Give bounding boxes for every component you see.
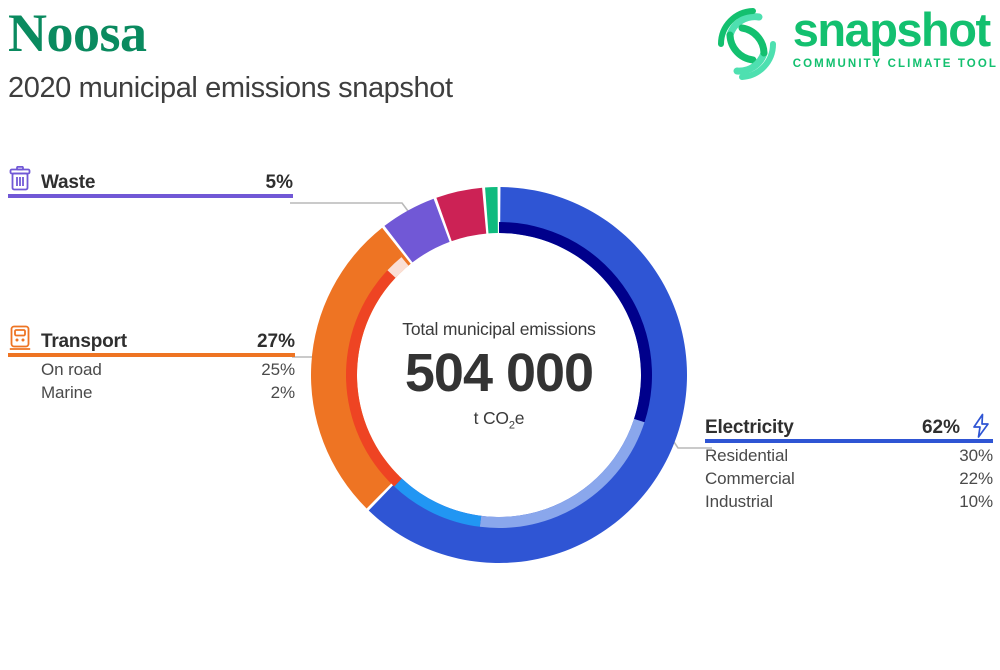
list-item: Commercial 22% xyxy=(705,466,993,489)
electricity-subitems: Residential 30% Commercial 22% Industria… xyxy=(705,443,993,512)
snapshot-spiral-logo-icon xyxy=(713,8,781,80)
transport-label: Transport xyxy=(41,331,127,353)
emissions-donut-chart xyxy=(311,187,687,563)
subitem-percent: 2% xyxy=(271,383,295,403)
list-item: On road 25% xyxy=(41,357,295,380)
lightning-bolt-icon xyxy=(969,413,993,439)
list-item: Marine 2% xyxy=(41,380,295,403)
waste-label: Waste xyxy=(41,172,95,194)
subitem-label: Residential xyxy=(705,446,788,466)
logo-text-block: snapshot COMMUNITY CLIMATE TOOL xyxy=(793,6,998,70)
electricity-header: Electricity 62% xyxy=(705,417,993,439)
page-title: Noosa xyxy=(8,6,147,60)
category-transport[interactable]: Transport 27% On road 25% Marine 2% xyxy=(8,331,295,403)
subitem-label: Industrial xyxy=(705,492,773,512)
tram-icon xyxy=(8,325,32,351)
electricity-percent: 62% xyxy=(922,417,960,439)
transport-header: Transport 27% xyxy=(8,331,295,353)
subitem-percent: 25% xyxy=(261,360,295,380)
category-waste[interactable]: Waste 5% xyxy=(8,172,293,198)
logo-tagline: COMMUNITY CLIMATE TOOL xyxy=(793,58,998,70)
subitem-percent: 30% xyxy=(959,446,993,466)
subitem-label: Commercial xyxy=(705,469,795,489)
waste-header: Waste 5% xyxy=(8,172,293,194)
electricity-label: Electricity xyxy=(705,417,794,439)
snapshot-logo: snapshot COMMUNITY CLIMATE TOOL xyxy=(713,6,998,80)
donut-inner-ring xyxy=(346,222,652,528)
transport-percent: 27% xyxy=(257,331,295,353)
transport-subitems: On road 25% Marine 2% xyxy=(8,357,295,403)
category-electricity[interactable]: Electricity 62% Residential 30% Commerci… xyxy=(705,417,993,512)
subitem-percent: 22% xyxy=(959,469,993,489)
list-item: Residential 30% xyxy=(705,443,993,466)
waste-percent: 5% xyxy=(266,172,293,194)
trash-can-icon xyxy=(8,166,32,192)
subitem-percent: 10% xyxy=(959,492,993,512)
page-subtitle: 2020 municipal emissions snapshot xyxy=(8,72,453,105)
emissions-snapshot-page: Noosa 2020 municipal emissions snapshot … xyxy=(0,0,1000,670)
subitem-label: On road xyxy=(41,360,102,380)
list-item: Industrial 10% xyxy=(705,489,993,512)
donut-outer-ring xyxy=(311,187,687,563)
subitem-label: Marine xyxy=(41,383,92,403)
logo-wordmark: snapshot xyxy=(793,6,998,53)
waste-rule xyxy=(8,194,293,198)
